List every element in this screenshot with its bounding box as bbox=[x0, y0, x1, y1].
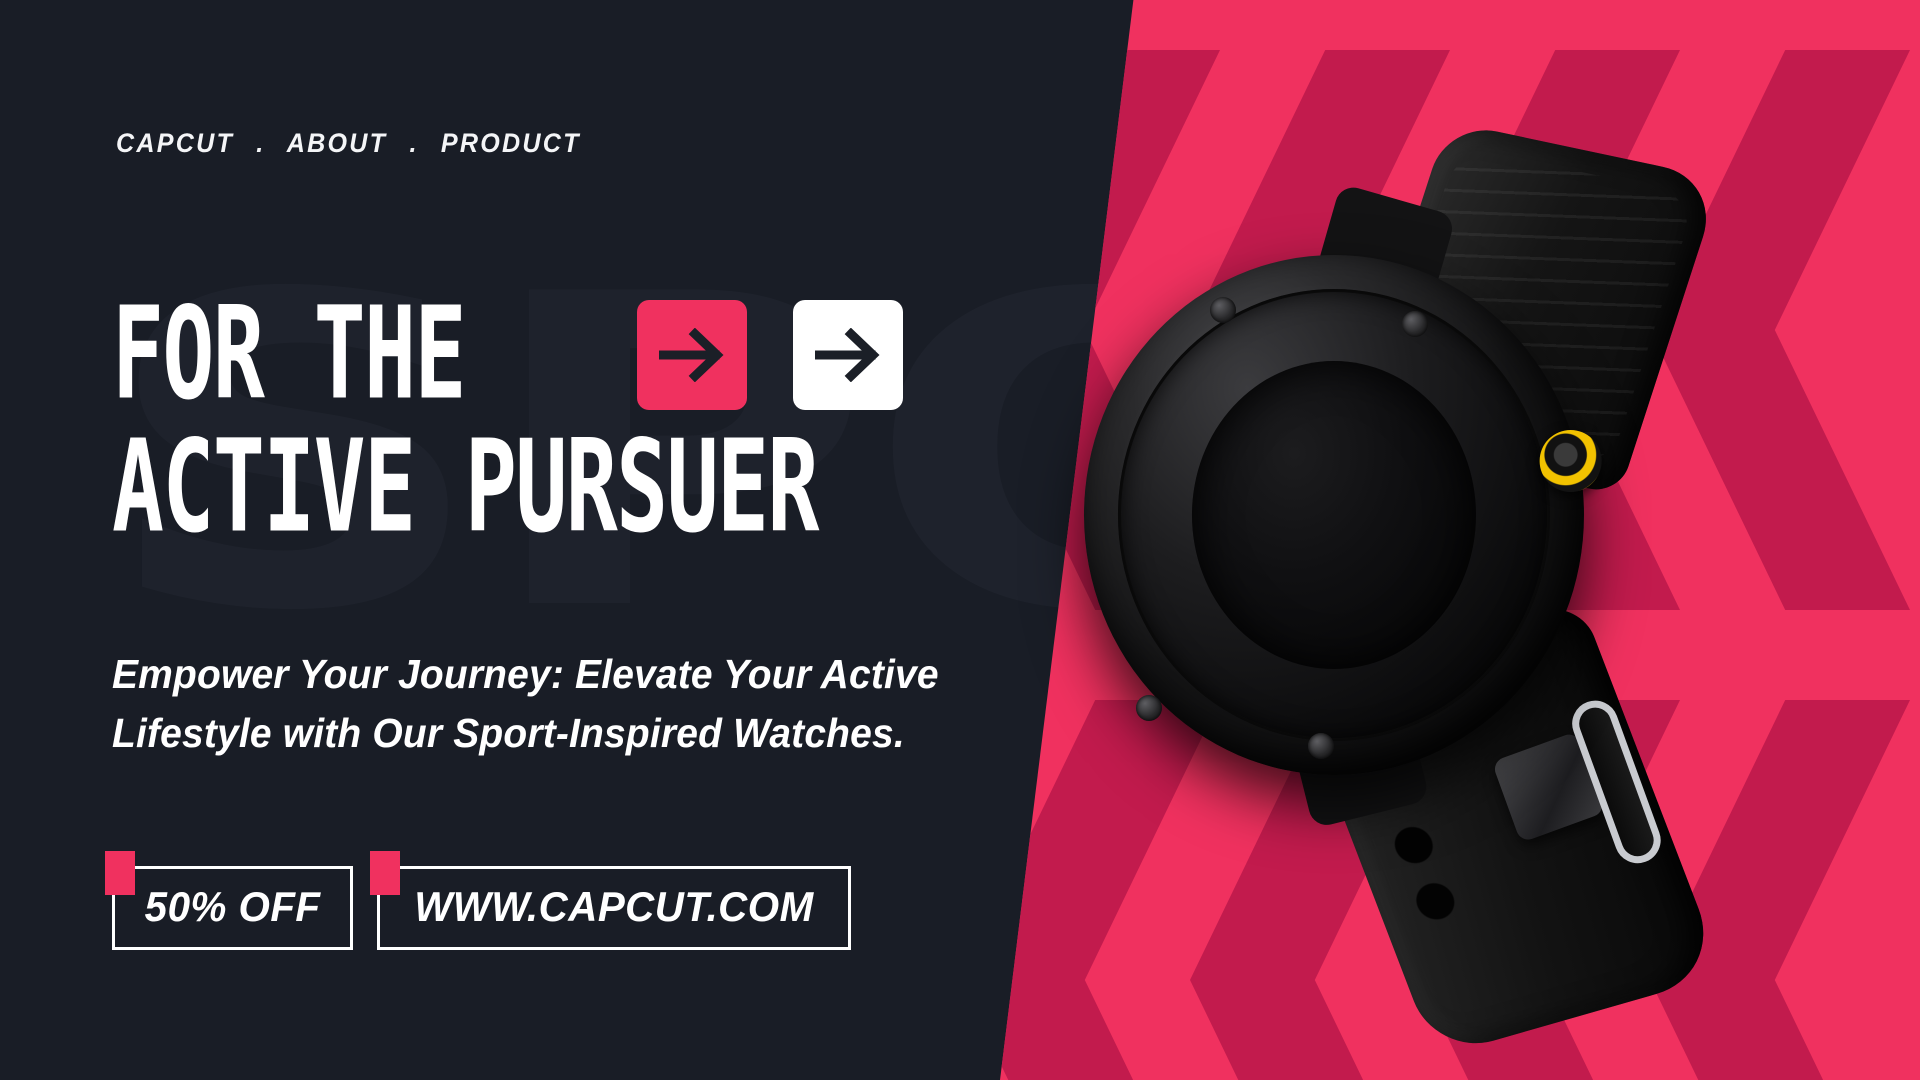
headline-line-2: ACTIVE PURSUER bbox=[112, 427, 912, 549]
arrow-right-button-white[interactable] bbox=[793, 300, 903, 410]
headline-row-1: FOR THE bbox=[112, 300, 1112, 410]
watch-screw bbox=[1308, 733, 1334, 759]
discount-label: 50% OFF bbox=[145, 883, 321, 931]
watch-screw bbox=[1210, 297, 1236, 323]
watch-screw bbox=[1402, 311, 1428, 337]
website-badge[interactable]: WWW.CAPCUT.COM bbox=[377, 866, 851, 950]
watch-bezel bbox=[1118, 289, 1550, 741]
nav-item-capcut[interactable]: CAPCUT bbox=[116, 128, 234, 158]
subtitle-line-1: Empower Your Journey: Elevate Your Activ… bbox=[112, 645, 967, 704]
arrow-right-button-pink[interactable] bbox=[637, 300, 747, 410]
arrow-right-icon bbox=[659, 328, 725, 382]
subtitle-line-2: Lifestyle with Our Sport-Inspired Watche… bbox=[112, 704, 967, 763]
nav-item-about[interactable]: ABOUT bbox=[287, 128, 387, 158]
website-label: WWW.CAPCUT.COM bbox=[415, 883, 814, 931]
nav-separator: . bbox=[243, 128, 278, 158]
product-smartwatch-image bbox=[1049, 112, 1911, 1019]
cta-row: 50% OFF WWW.CAPCUT.COM bbox=[112, 866, 851, 950]
nav-item-product[interactable]: PRODUCT bbox=[441, 128, 581, 158]
corner-square-accent bbox=[370, 851, 400, 895]
watch-dial bbox=[1192, 361, 1476, 669]
subtitle-block: Empower Your Journey: Elevate Your Activ… bbox=[112, 645, 967, 764]
watch-crown-button bbox=[1540, 430, 1602, 492]
arrow-right-icon bbox=[815, 328, 881, 382]
nav-separator: . bbox=[396, 128, 431, 158]
top-navigation: CAPCUT . ABOUT . PRODUCT bbox=[116, 128, 581, 159]
headline-block: FOR THE ACTIVE PURSUER bbox=[112, 300, 1112, 540]
watch-case bbox=[1084, 255, 1584, 775]
headline-line-1: FOR THE bbox=[112, 294, 465, 416]
banner-root: SPO CAP bbox=[0, 0, 1920, 1080]
corner-square-accent bbox=[105, 851, 135, 895]
discount-badge[interactable]: 50% OFF bbox=[112, 866, 353, 950]
watch-screw bbox=[1136, 695, 1162, 721]
